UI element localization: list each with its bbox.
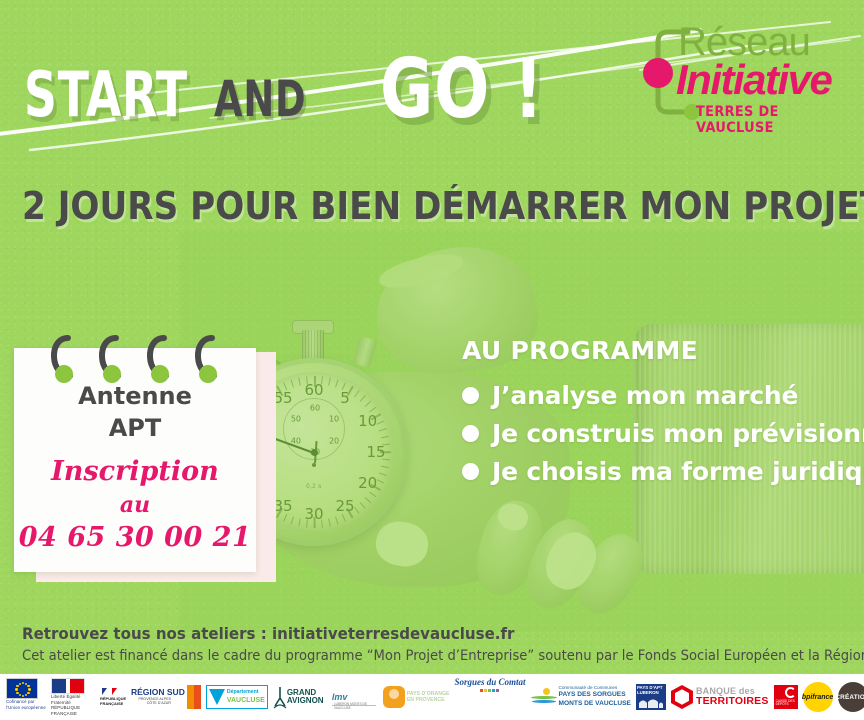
stopwatch-subdial-number: 20 [329,437,339,446]
partner-logo-grand-avignon: GRAND AVIGNON [273,678,327,716]
hexagon-icon [671,685,693,709]
partner-name: RÉPUBLIQUE FRANÇAISE [100,697,126,707]
notepad-antenne-label: Antenne [14,382,256,410]
stopwatch-tick [376,479,384,483]
flag-red-band [70,679,84,694]
logo-text-initiative: Initiative [676,56,831,104]
partner-name: CRÉATION [835,694,864,701]
partner-logo-strip: Cofinancé par l’Union européenne Liberté… [0,674,864,720]
eu-star-icon [16,685,18,687]
page-title: START AND GO ! [0,24,620,134]
french-flag-icon [51,678,85,694]
partner-caption: Liberté Égalité Fraternité [51,694,95,705]
program-section: AU PROGRAMME J’analyse mon marchéJe cons… [462,336,864,495]
eu-star-icon [22,695,24,697]
partner-name: Communauté de Communes PAYS DES SORGUES … [559,685,631,708]
stopwatch-number: 35 [273,497,292,515]
stopwatch-number: 25 [335,497,354,515]
flag-blue-band [52,679,66,694]
landscape-mark-icon [531,687,557,707]
partner-logo-lmv: lmv LUBERON MONTS DE VAUCLUSE [332,684,378,710]
partner-logo-republique-francaise-liberte: Liberté Égalité Fraternité RÉPUBLIQUE FR… [51,678,95,716]
partner-name: Sorgues du Comtat [455,678,526,687]
partner-logo-european-union: Cofinancé par l’Union européenne [6,678,46,716]
program-item: Je choisis ma forme juridique [462,457,864,486]
tricolor-mark-icon [112,688,117,695]
partner-logo-pays-d-orange: PAYS D’ORANGE EN PROVENCE [383,678,450,716]
stopwatch-tick [369,492,376,498]
swatch [480,689,483,692]
partner-label: PAYS D’APT [637,685,663,690]
partner-logo-sorgues-du-comtat: Sorgues du Comtat [455,678,526,716]
stopwatch-tick [381,466,389,469]
partner-name: Département VAUCLUSE [227,689,265,705]
program-item: J’analyse mon marché [462,381,864,410]
partner-logo-pays-des-sorgues: Communauté de Communes PAYS DES SORGUES … [531,678,631,716]
stopwatch-tick [342,514,346,522]
partner-label-3: MONTS DE VAUCLUSE [559,700,631,709]
notepad-au-label: au [14,492,256,518]
partner-name: PAYS D’ORANGE EN PROVENCE [407,691,450,704]
stopwatch-tick [291,517,294,525]
partner-logo-banque-des-territoires: BANQUE des TERRITOIRES [671,678,769,716]
stopwatch-subdial-number: 50 [291,415,301,424]
program-heading: AU PROGRAMME [462,336,864,365]
notepad-city-label: APT [14,414,256,442]
stopwatch-side-button [352,336,377,368]
stopwatch-tick [354,507,360,514]
notepad-phone-number: 04 65 30 00 21 [14,522,256,553]
eu-star-icon [28,688,30,690]
program-item-label: Je choisis ma forme juridique [492,457,864,486]
stopwatch-tick [328,518,331,526]
swatch [496,689,499,692]
partner-logo-region-sud: RÉGION SUD PROVENCE ALPES CÔTE D’AZUR [131,678,201,716]
stopwatch-number: 60 [304,381,323,399]
partner-name: PAYS D’APT LUBERON [637,685,663,696]
grand-avignon-mark-icon [273,684,287,710]
partner-name: RÉPUBLIQUE FRANÇAISE [51,705,95,716]
stopwatch-tick [354,390,360,397]
partner-name: RÉGION SUD [131,688,185,697]
stopwatch-number: 5 [340,389,350,407]
eu-star-icon [27,685,29,687]
eu-star-icon [19,683,21,685]
stopwatch-tick [376,421,384,425]
partner-caption: Cofinancé par l’Union européenne [6,699,46,710]
eu-star-icon [25,694,27,696]
stopwatch-number: 15 [366,443,385,461]
logo-text-terres-de-vaucluse: TERRES DE VAUCLUSE [696,104,836,136]
stopwatch-center-pin [311,449,318,456]
program-item: Je construis mon prévisionnel [462,419,864,448]
stopwatch-tick [283,514,287,522]
stopwatch-number: 55 [273,389,292,407]
stopwatch-tick [298,518,301,526]
aqueduct-arches-icon [639,698,663,708]
stopwatch-number: 30 [304,505,323,523]
poster-root: 51015202530354045505560 601020304050 0,2… [0,0,864,720]
sun-icon [543,688,550,695]
stopwatch-tick [365,497,372,503]
stopwatch-subdial-pin [312,463,316,467]
eu-star-icon [22,682,24,684]
stopwatch-tick [291,380,294,388]
stopwatch-brand-text: 0,2 s [306,484,322,490]
stopwatch-tick [328,378,331,386]
partner-name: bpifrance [802,694,834,701]
eu-star-icon [16,692,18,694]
stopwatch-tick [365,401,372,407]
partner-label: Communauté de Communes [559,685,618,690]
swatch [488,689,491,692]
stopwatch-tick [360,395,366,402]
partner-caption: LUBERON MONTS DE VAUCLUSE [334,702,378,710]
subtitle: 2 JOURS POUR BIEN DÉMARRER MON PROJET [22,184,864,228]
partner-name: GRAND AVIGNON [287,689,327,706]
footer-website-line: Retrouvez tous nos ateliers : initiative… [22,624,864,643]
partner-logo-creation: CRÉATION [838,682,864,712]
program-item-label: Je construis mon prévisionnel [492,419,864,448]
partner-logo-departement-vaucluse: Département VAUCLUSE [206,685,268,709]
bullet-dot-icon [462,425,479,442]
partner-label-2: TERRITOIRES [696,696,769,707]
stopwatch-tick [298,378,301,386]
stopwatch-subdial-number: 10 [329,415,339,424]
program-list: J’analyse mon marchéJe construis mon pré… [462,381,864,486]
partner-label-2: PAYS DES SORGUES [559,691,631,700]
partner-caption: EN PROVENCE [407,697,450,704]
color-swatches-icon [480,689,500,692]
region-sud-bars-icon [187,685,201,709]
stopwatch-tick [379,428,387,431]
stopwatch-tick [381,436,389,439]
notepad-card: Antenne APT Inscription au 04 65 30 00 2… [14,330,276,582]
swatch [492,689,495,692]
initiative-logo: Réseau Initiative TERRES DE VAUCLUSE [632,18,848,128]
bullet-dot-icon [462,463,479,480]
hill-shape [531,696,557,699]
bullet-dot-icon [462,387,479,404]
partner-label-2: LUBERON [637,690,659,695]
stopwatch-number: 10 [358,412,377,430]
bar [187,685,194,709]
water-shape [532,700,556,703]
stopwatch-tick [335,517,338,525]
c-mark-icon [785,687,796,698]
stopwatch-tick [360,502,366,509]
partner-logo-republique-francaise: RÉPUBLIQUE FRANÇAISE [100,686,126,708]
footer-funding-line: Cet atelier est financé dans le cadre du… [22,648,864,664]
eu-star-icon [19,694,21,696]
tricolor-mark-icon [102,688,107,695]
notepad-spiral-rings-icon [14,330,256,390]
title-word-and: AND [214,70,307,128]
partner-logo-bpifrance: bpifrance [803,682,833,712]
swatch [484,689,487,692]
title-word-go: GO ! [380,42,544,137]
partner-label-2: VAUCLUSE [227,696,265,705]
vaucluse-v-icon [209,689,225,705]
partner-label: Département [227,689,259,695]
partner-logo-caisse-des-depots: CAISSE DES DÉPÔTS [774,685,798,709]
partner-logo-pays-apt-luberon: PAYS D’APT LUBERON [636,684,666,710]
footer-text: Retrouvez tous nos ateliers : initiative… [22,624,864,664]
orange-fruit-icon [383,686,405,708]
eu-star-icon [15,688,17,690]
eu-star-icon [27,692,29,694]
bar [194,685,201,709]
partner-caption: PROVENCE ALPES CÔTE D’AZUR [131,697,171,706]
eu-flag-icon [6,678,38,699]
program-item-label: J’analyse mon marché [492,381,798,410]
title-word-start: START [24,58,188,131]
stopwatch-number: 20 [358,474,377,492]
stopwatch-tick [335,380,338,388]
notepad-inscription-label: Inscription [14,456,256,487]
stopwatch-subdial-number: 60 [310,404,320,413]
partner-name: lmv [332,692,348,702]
partner-name: CAISSE DES DÉPÔTS [776,700,798,707]
stopwatch-tick [379,473,387,476]
